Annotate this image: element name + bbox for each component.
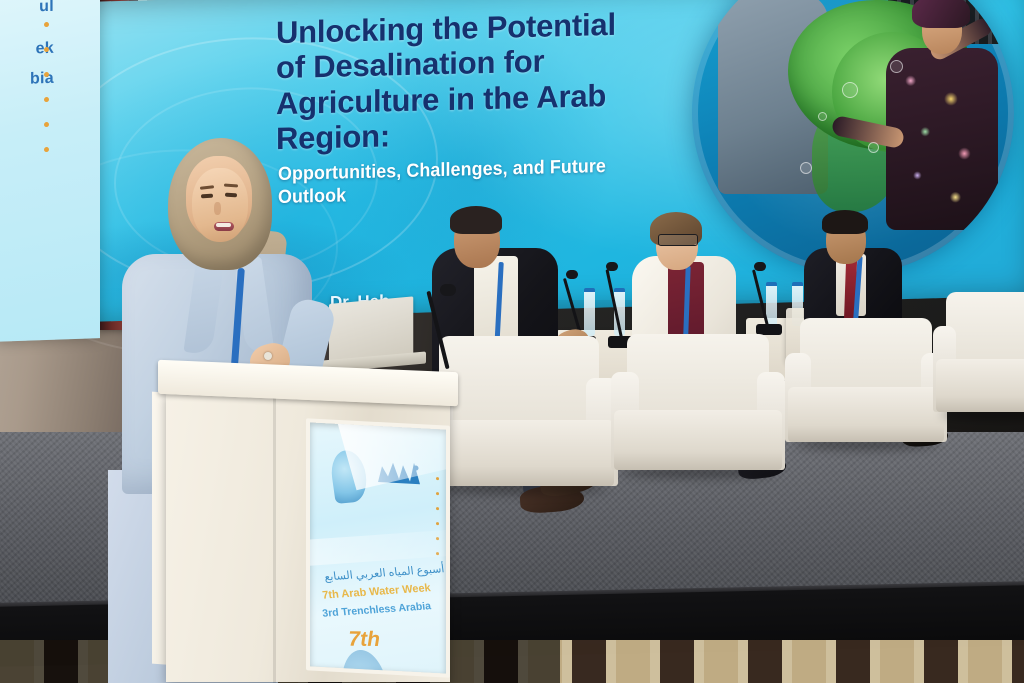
slide-title: Unlocking the Potential of Desalination … (276, 5, 696, 157)
conference-photo: ul ek bia Unlocking the Potential of Des… (0, 0, 1024, 683)
mic-head-2 (606, 262, 618, 271)
speaker-nose (214, 202, 221, 215)
speaker-teeth (216, 223, 231, 227)
podium-logo-en-secondary: 3rd Trenchless Arabia (322, 600, 432, 620)
panelist-3-hair (822, 210, 868, 234)
water-bottle-1 (584, 288, 595, 336)
mic-head-1 (566, 270, 578, 279)
podium-panel-glare-1 (337, 418, 450, 490)
panelist-1-hair (450, 206, 502, 234)
podium-mic-head-2 (440, 284, 456, 296)
left-banner-fragment-3: bia (30, 70, 54, 89)
podium-branding-panel: أسبوع المياه العربي السابع 7th Arab Wate… (306, 418, 450, 678)
mic-head-3 (754, 262, 766, 271)
podium-ordinal-badge: 7th (348, 628, 380, 653)
podium: أسبوع المياه العربي السابع 7th Arab Wate… (158, 366, 458, 683)
left-banner-dots (44, 22, 49, 172)
speaker-eye-right (225, 193, 237, 198)
podium-logo-en-primary: 7th Arab Water Week (322, 582, 432, 602)
panelist-2-glasses (658, 234, 698, 246)
podium-fold-line (273, 392, 276, 683)
armchair-2 (614, 334, 782, 470)
left-banner-fragment-1: ul (39, 0, 54, 16)
speaker-ring (264, 352, 272, 360)
armchair-4-empty (936, 292, 1024, 412)
speaker-eye-left (201, 194, 213, 199)
armchair-3 (788, 318, 944, 442)
slide-subtitle: Opportunities, Challenges, and Future Ou… (278, 155, 654, 210)
left-side-banner: ul ek bia (0, 0, 100, 342)
podium-panel-glare-2 (306, 528, 450, 567)
podium-logo-arabic: أسبوع المياه العربي السابع (324, 562, 445, 583)
woman-hair (912, 0, 970, 28)
podium-7th-emblem: 7th (330, 627, 434, 678)
